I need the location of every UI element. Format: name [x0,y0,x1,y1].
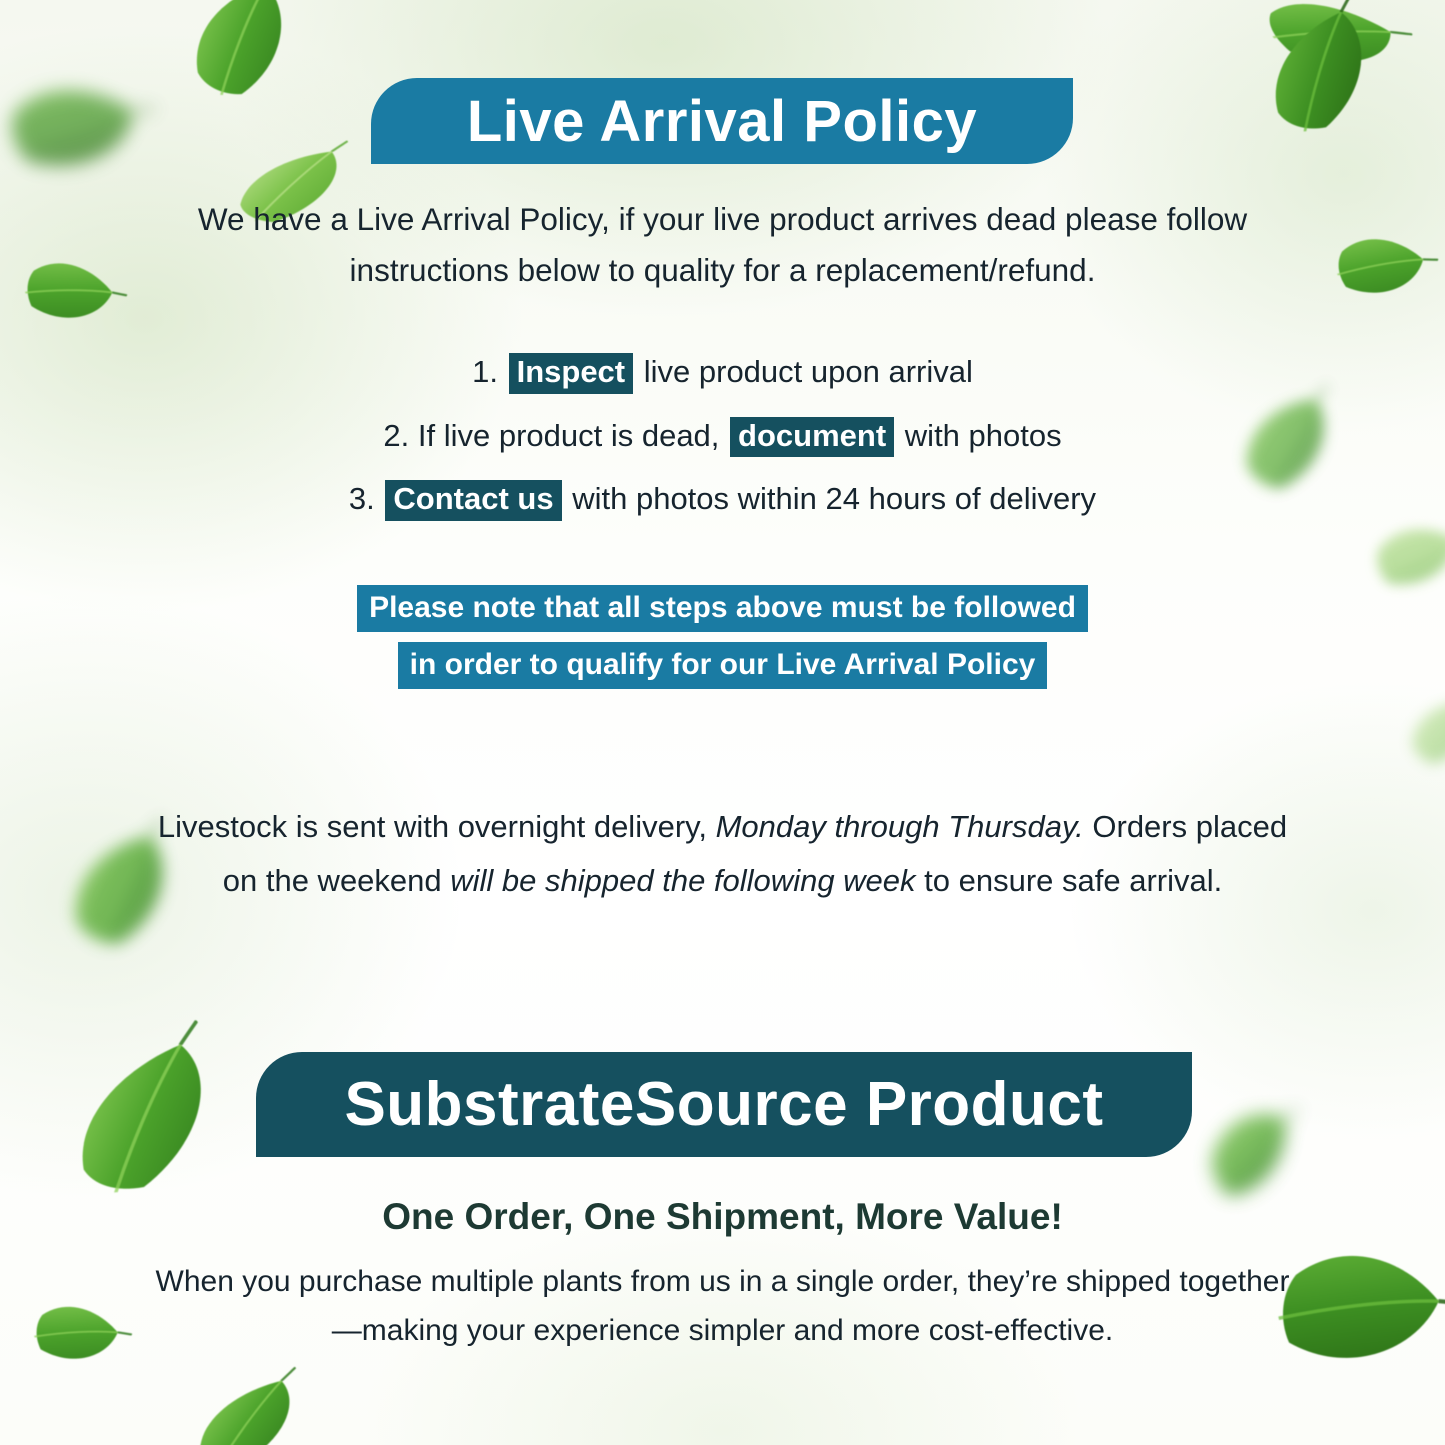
policy-note-row-2: in order to qualify for our Live Arrival… [120,642,1325,689]
intro-paragraph: We have a Live Arrival Policy, if your l… [150,194,1295,296]
step-item-1: 1. Inspect live product upon arrival [120,352,1325,394]
step-2-number: 2. [383,418,409,453]
step-item-2: 2. If live product is dead, document wit… [120,416,1325,458]
policy-infographic: Live Arrival Policy We have a Live Arriv… [0,0,1445,1445]
leaf-top-center-icon [162,0,328,124]
live-arrival-policy-banner: Live Arrival Policy [371,78,1073,164]
leaf-top-right-b-icon [1236,0,1414,162]
substratesource-product-title: SubstrateSource Product [344,1069,1103,1140]
step-1-number: 1. [472,354,498,389]
step-1-highlight: Inspect [509,353,634,394]
livestock-text-3: to ensure safe arrival. [916,863,1223,898]
live-arrival-policy-title: Live Arrival Policy [467,88,977,155]
product-subheading: One Order, One Shipment, More Value! [120,1196,1325,1238]
leaf-far-right-edge-icon [1400,694,1445,777]
leaf-top-right-a-icon [1245,0,1413,102]
leaf-top-left-blur-icon [0,56,156,210]
substratesource-product-banner: SubstrateSource Product [256,1052,1192,1157]
leaf-right-upper-icon [1316,212,1438,329]
policy-note-block: Please note that all steps above must be… [120,585,1325,699]
livestock-text-1: Livestock is sent with overnight deliver… [158,809,716,844]
policy-note-row-1: Please note that all steps above must be… [120,585,1325,632]
step-3-number: 3. [349,481,375,516]
step-item-3: 3. Contact us with photos within 24 hour… [120,479,1325,521]
leaf-left-bottom-icon [14,1279,133,1396]
step-3-post: with photos within 24 hours of delivery [572,481,1096,516]
step-1-post: live product upon arrival [644,354,973,389]
leaf-left-upper-icon [3,234,127,356]
step-2-highlight: document [730,417,894,458]
policy-note-line-1: Please note that all steps above must be… [357,585,1088,632]
step-3-highlight: Contact us [385,480,561,521]
step-2-pre: If live product is dead, [418,418,720,453]
steps-list: 1. Inspect live product upon arrival 2. … [120,352,1325,543]
livestock-italic-2: will be shipped the following week [450,863,915,898]
livestock-italic-1: Monday through Thursday. [716,809,1084,844]
leaf-bottom-center-icon [175,1367,326,1445]
product-paragraph: When you purchase multiple plants from u… [150,1258,1295,1355]
policy-note-line-2: in order to qualify for our Live Arrival… [398,642,1048,689]
step-2-post: with photos [905,418,1062,453]
livestock-shipping-paragraph: Livestock is sent with overnight deliver… [150,800,1295,909]
leaf-right-mid-b-icon [1360,508,1445,612]
